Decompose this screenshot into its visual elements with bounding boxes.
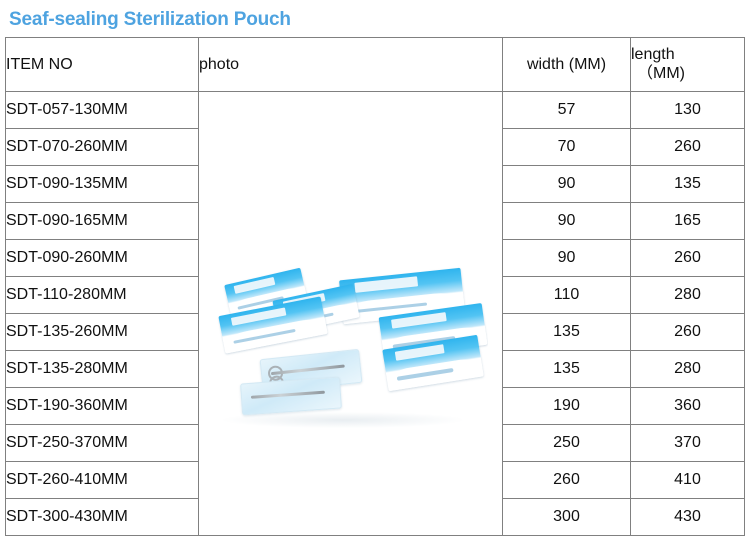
- cell-item-no: SDT-090-165MM: [6, 203, 199, 240]
- cell-width: 110: [503, 277, 631, 314]
- cell-item-no: SDT-260-410MM: [6, 462, 199, 499]
- cell-item-no: SDT-110-280MM: [6, 277, 199, 314]
- cell-width: 57: [503, 92, 631, 129]
- cell-length: 130: [631, 92, 745, 129]
- cell-width: 300: [503, 499, 631, 536]
- table-header-row: ITEM NO photo width (MM) length （MM): [6, 38, 745, 92]
- cell-width: 250: [503, 425, 631, 462]
- cell-item-no: SDT-090-135MM: [6, 166, 199, 203]
- cell-width: 260: [503, 462, 631, 499]
- column-header-width: width (MM): [503, 38, 631, 92]
- cell-width: 90: [503, 240, 631, 277]
- cell-length: 280: [631, 351, 745, 388]
- cell-length: 165: [631, 203, 745, 240]
- cell-width: 70: [503, 129, 631, 166]
- cell-length: 260: [631, 314, 745, 351]
- cell-item-no: SDT-190-360MM: [6, 388, 199, 425]
- cell-width: 90: [503, 166, 631, 203]
- cell-width: 190: [503, 388, 631, 425]
- photo-shadow: [223, 412, 463, 428]
- column-header-item-no: ITEM NO: [6, 38, 199, 92]
- cell-item-no: SDT-057-130MM: [6, 92, 199, 129]
- table-header: ITEM NO photo width (MM) length （MM): [6, 38, 745, 92]
- photo-wrapper: [199, 92, 502, 522]
- page-root: Seaf-sealing Sterilization Pouch ITEM NO…: [0, 0, 750, 538]
- cell-product-photo: [199, 92, 503, 536]
- cell-width: 135: [503, 351, 631, 388]
- cell-item-no: SDT-135-280MM: [6, 351, 199, 388]
- column-header-length-line1: length: [631, 46, 675, 63]
- cell-width: 90: [503, 203, 631, 240]
- cell-length: 260: [631, 240, 745, 277]
- cell-item-no: SDT-135-260MM: [6, 314, 199, 351]
- cell-length: 370: [631, 425, 745, 462]
- cell-length: 430: [631, 499, 745, 536]
- cell-item-no: SDT-090-260MM: [6, 240, 199, 277]
- column-header-length-line2: （MM): [631, 65, 744, 84]
- cell-item-no: SDT-250-370MM: [6, 425, 199, 462]
- column-header-length: length （MM): [631, 38, 745, 92]
- cell-length: 260: [631, 129, 745, 166]
- cell-length: 280: [631, 277, 745, 314]
- specification-table: ITEM NO photo width (MM) length （MM) SDT…: [5, 37, 745, 536]
- table-body: SDT-057-130MM57130SDT-070-260MM70260SDT-…: [6, 92, 745, 536]
- cell-length: 410: [631, 462, 745, 499]
- cell-length: 360: [631, 388, 745, 425]
- page-title: Seaf-sealing Sterilization Pouch: [9, 9, 291, 31]
- cell-width: 135: [503, 314, 631, 351]
- sealed-pouch-with-forceps: [240, 377, 342, 416]
- product-photo-image: [213, 262, 488, 432]
- column-header-photo: photo: [199, 38, 503, 92]
- table-row: SDT-057-130MM57130: [6, 92, 745, 129]
- cell-item-no: SDT-300-430MM: [6, 499, 199, 536]
- cell-item-no: SDT-070-260MM: [6, 129, 199, 166]
- cell-length: 135: [631, 166, 745, 203]
